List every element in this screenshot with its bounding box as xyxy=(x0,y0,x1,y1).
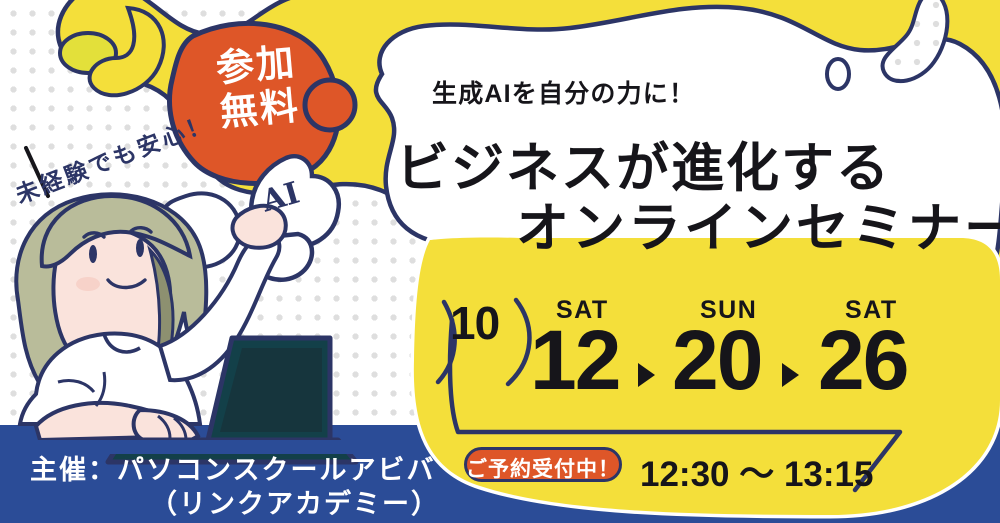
session-time-range: 12:30 ～ 13:15 xyxy=(640,446,873,497)
eye-right xyxy=(136,239,144,257)
schedule-day-3: 26 xyxy=(818,322,907,398)
schedule-day-2: 20 xyxy=(672,322,761,398)
headline-kicker: 生成AIを自分の力に！ xyxy=(432,74,695,110)
headline-line-2: オンラインセミナー xyxy=(516,186,1000,262)
schedule-day-1: 12 xyxy=(530,322,619,398)
free-badge-label: 参加 無料 xyxy=(192,39,323,137)
blush xyxy=(76,277,100,291)
reservation-badge-label[interactable]: ご予約受付中！ xyxy=(464,453,622,483)
organizer-line-2: （リンクアカデミー） xyxy=(150,482,440,521)
schedule-arrow-icon-2 xyxy=(782,363,799,387)
schedule-arrow-icon-1 xyxy=(638,363,655,387)
eye-left xyxy=(89,245,97,263)
schedule-month: 10 xyxy=(450,296,499,350)
white-bubble-dot xyxy=(827,59,849,89)
seminar-promo-banner: 参加 無料 未経験でも安心！ AI 生成AIを自分の力に！ ビジネスが進化する … xyxy=(0,0,1000,523)
